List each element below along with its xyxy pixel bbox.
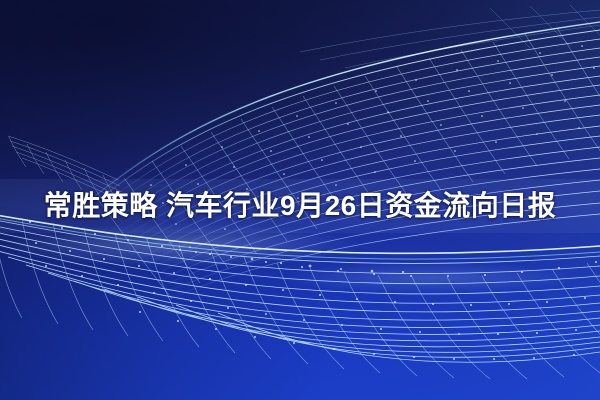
banner-image: 常胜策略 汽车行业9月26日资金流向日报 xyxy=(0,0,600,400)
banner-title: 常胜策略 汽车行业9月26日资金流向日报 xyxy=(44,192,557,220)
banner-title-container: 常胜策略 汽车行业9月26日资金流向日报 xyxy=(0,179,600,233)
